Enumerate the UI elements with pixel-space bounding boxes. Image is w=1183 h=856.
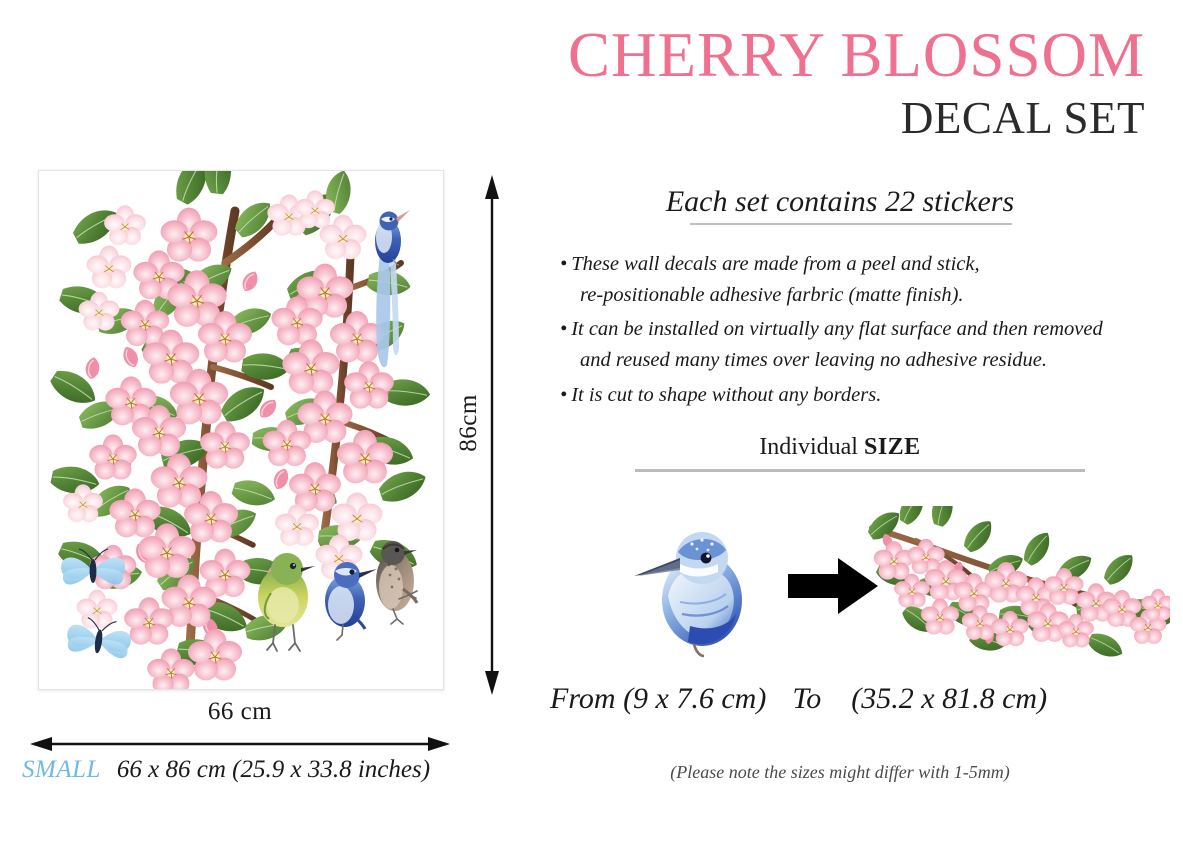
size-heading-normal: Individual (759, 434, 864, 460)
feature-text: It is cut to shape without any borders. (571, 384, 881, 406)
title-sub: DECAL SET (520, 89, 1145, 145)
from-label: From (550, 682, 616, 715)
size-tolerance-note: (Please note the sizes might differ with… (520, 762, 1160, 783)
bullet-glyph: • (560, 318, 571, 340)
size-heading-strong: SIZE (864, 434, 921, 460)
to-label: To (766, 682, 821, 715)
width-dimension: 66 cm (30, 698, 450, 756)
sample-kingfisher-illustration (630, 518, 780, 658)
individual-size-heading: Individual SIZE (520, 434, 1160, 461)
description-panel: CHERRY BLOSSOM DECAL SET Each set contai… (520, 0, 1183, 856)
page-title: CHERRY BLOSSOM DECAL SET (520, 22, 1145, 145)
bullet-glyph: • (560, 253, 571, 275)
size-variant-tag: SMALL (22, 756, 117, 783)
feature-line: •It can be installed on virtually any fl… (560, 314, 1170, 345)
feature-item: •It can be installed on virtually any fl… (560, 314, 1170, 376)
sample-blossom-branch-illustration (860, 506, 1170, 666)
from-value: (9 x 7.6 cm) (623, 682, 766, 715)
height-dimension: 86cm (452, 175, 516, 695)
product-listing-page: 66 cm 86cm SMALL66 x 86 cm (25.9 x 33.8 … (0, 0, 1183, 856)
width-dimension-label: 66 cm (30, 698, 450, 726)
set-contents-heading: Each set contains 22 stickers (520, 185, 1160, 219)
feature-text: These wall decals are made from a peel a… (571, 253, 979, 275)
contents-divider (690, 223, 1012, 225)
feature-item: •It is cut to shape without any borders. (560, 380, 1170, 411)
size-sample-row (520, 498, 1183, 676)
to-value: (35.2 x 81.8 cm) (821, 682, 1047, 715)
size-range-caption: From (9 x 7.6 cm)To(35.2 x 81.8 cm) (550, 682, 1170, 716)
decal-sheet-panel: 66 cm 86cm SMALL66 x 86 cm (25.9 x 33.8 … (0, 0, 520, 856)
feature-list: •These wall decals are made from a peel … (560, 249, 1170, 414)
sheet-size-caption: SMALL66 x 86 cm (25.9 x 33.8 inches) (22, 756, 430, 784)
title-main: CHERRY BLOSSOM (520, 22, 1145, 89)
feature-line: re-positionable adhesive farbric (matte … (560, 280, 1170, 311)
size-divider (635, 469, 1085, 472)
bullet-glyph: • (560, 384, 571, 406)
feature-line: and reused many times over leaving no ad… (560, 345, 1170, 376)
cherry-blossom-artwork (39, 171, 443, 689)
decal-sheet-preview (38, 170, 444, 690)
height-arrow-icon (482, 175, 502, 695)
feature-line: •It is cut to shape without any borders. (560, 380, 1170, 411)
feature-item: •These wall decals are made from a peel … (560, 249, 1170, 311)
width-arrow-icon (30, 734, 450, 754)
feature-text: It can be installed on virtually any fla… (571, 318, 1103, 340)
size-variant-value: 66 x 86 cm (25.9 x 33.8 inches) (117, 756, 430, 783)
feature-line: •These wall decals are made from a peel … (560, 249, 1170, 280)
height-dimension-label: 86cm (455, 313, 483, 533)
